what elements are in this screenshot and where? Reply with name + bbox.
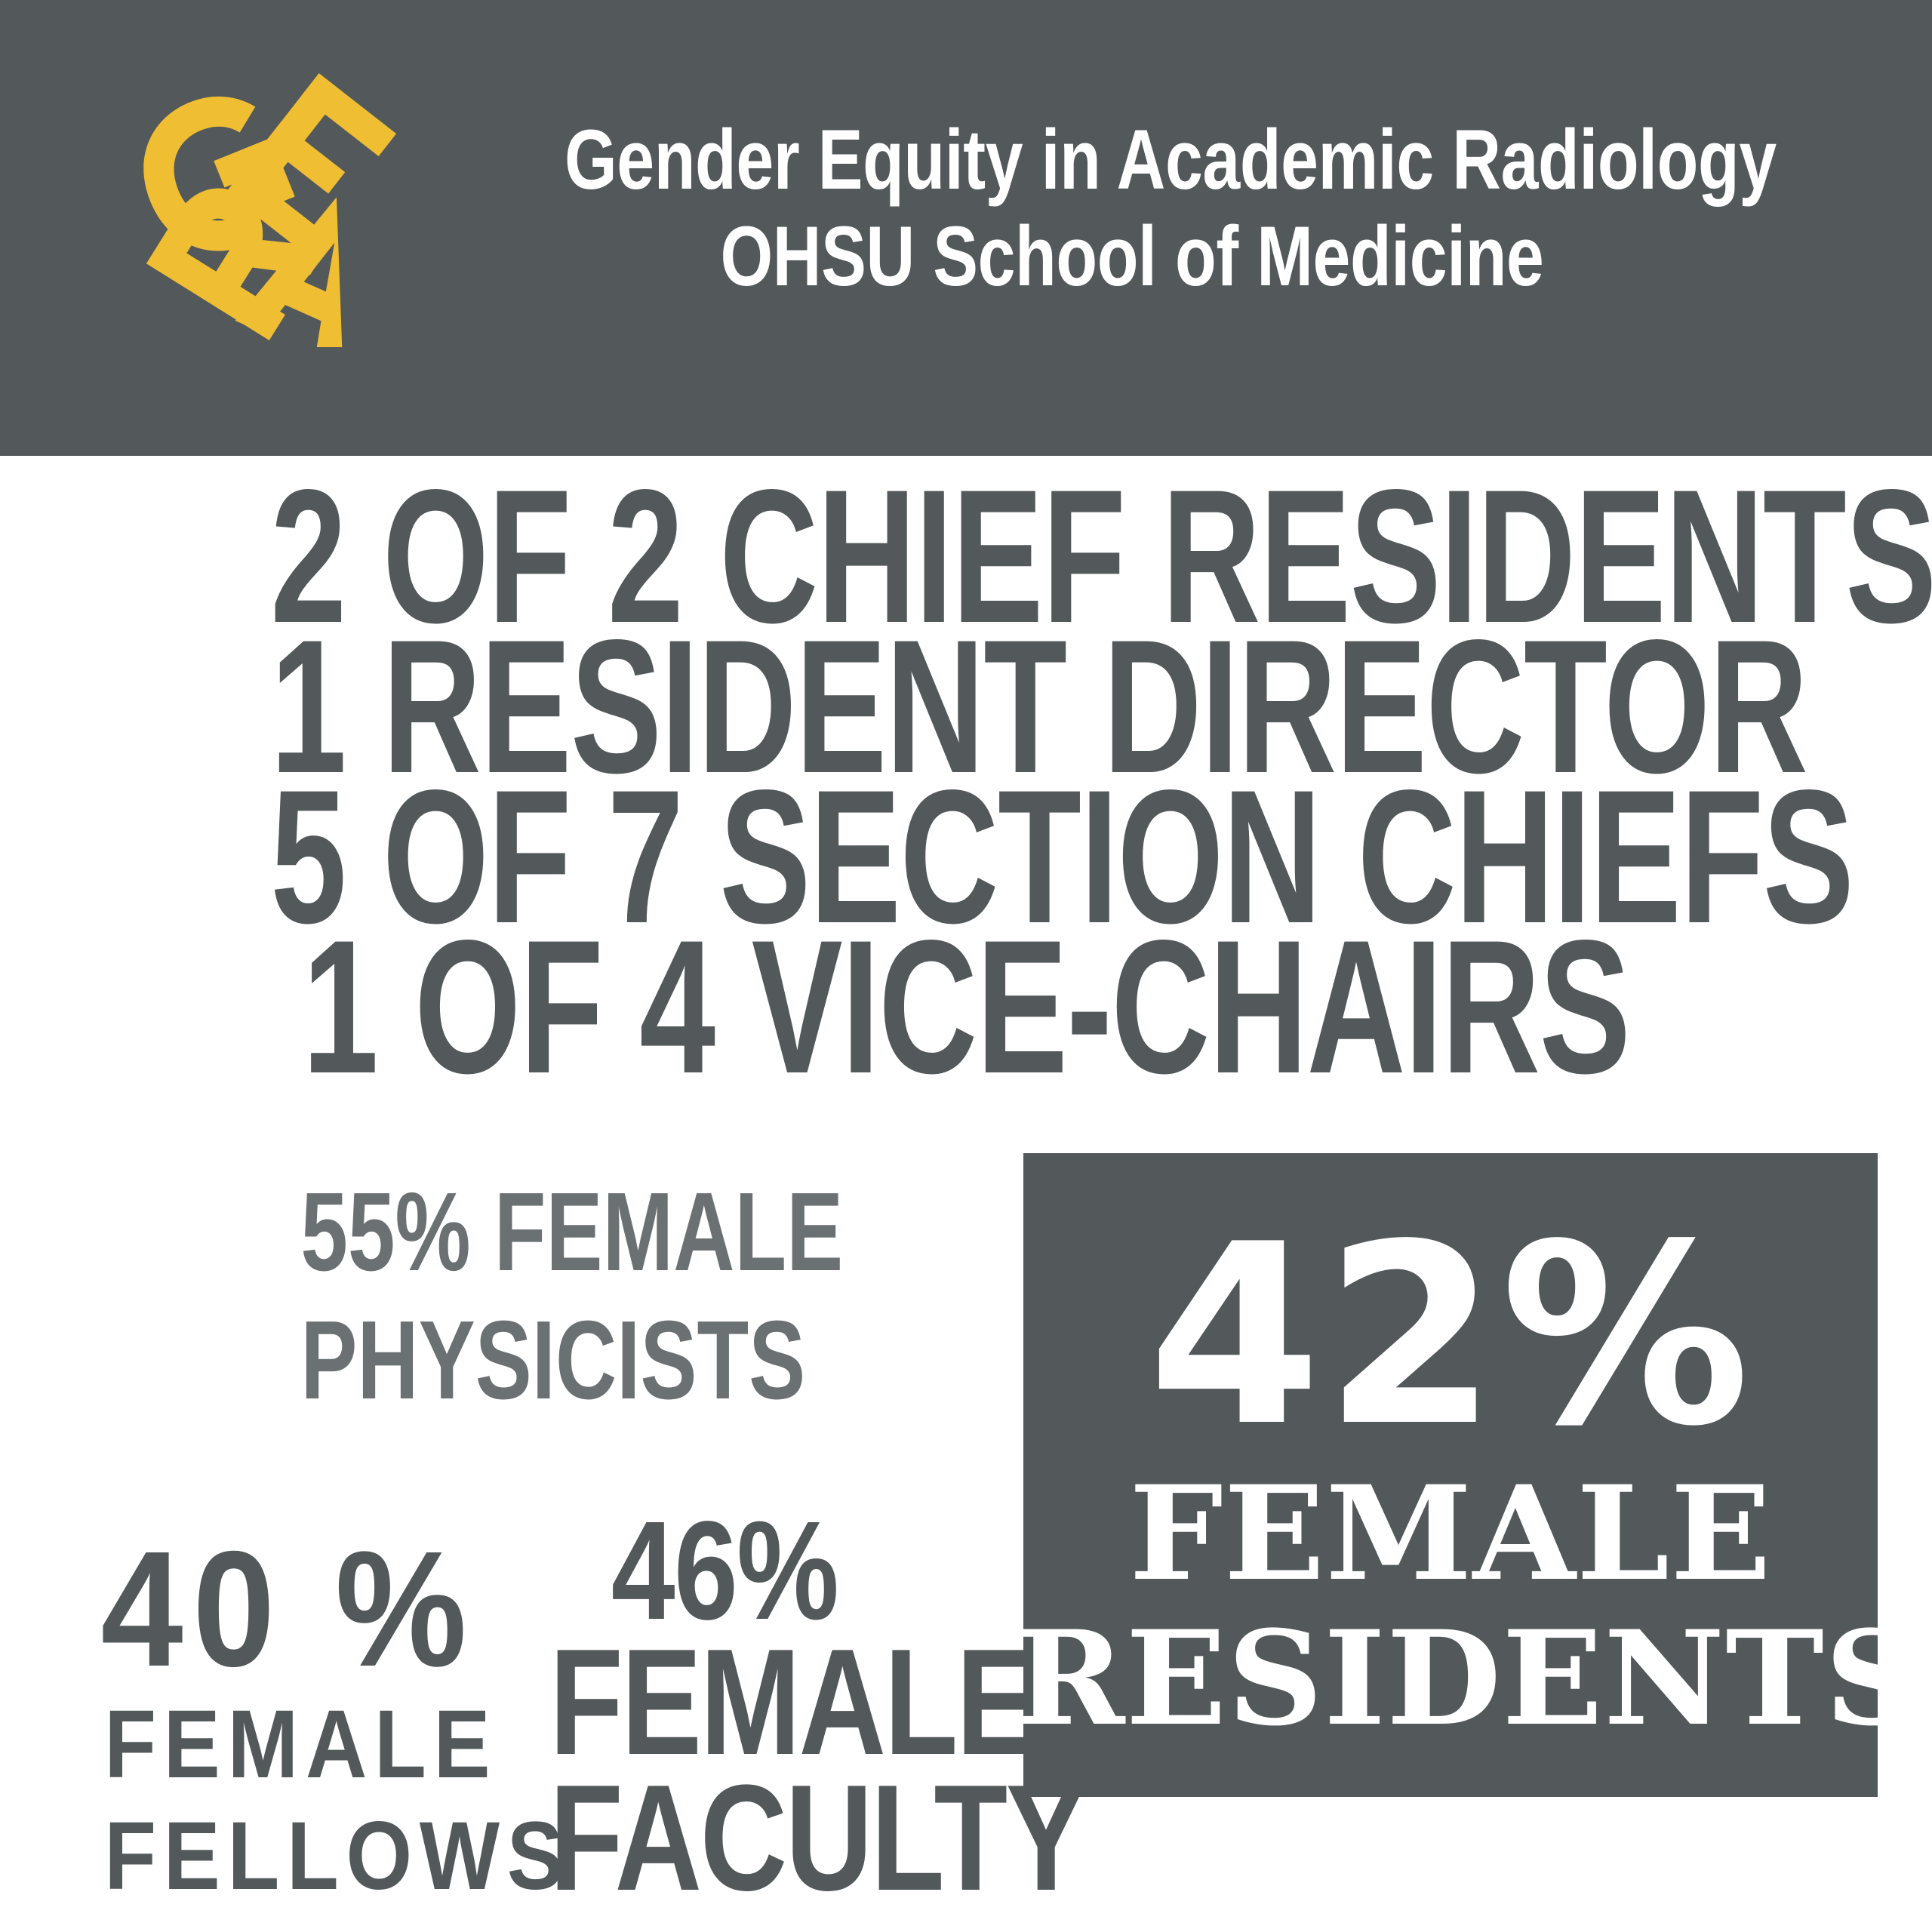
stat-fellows-line-1: FEMALE	[104, 1689, 417, 1801]
stat-faculty-line-1: FEMALE	[549, 1635, 900, 1770]
stat-physicists-line-2: PHYSICISTS	[300, 1297, 771, 1425]
gear-logo-icon	[106, 45, 400, 347]
stat-residents-line-2: RESIDENTS	[1015, 1606, 1887, 1751]
stat-residents-line-1: FEMALE	[1015, 1461, 1887, 1606]
header-band: Gender Equity in Academic Radiology OHSU…	[0, 0, 1932, 456]
stat-female-fellows: 40 % FEMALE FELLOWS	[83, 1531, 438, 1912]
header-title: Gender Equity in Academic Radiology OHSU…	[423, 112, 1841, 305]
headline-list: 2 OF 2 CHIEF RESIDENTS 1 RESIDENT DIRECT…	[0, 481, 1932, 1082]
stat-female-faculty: 46% FEMALE FACULTY	[506, 1508, 943, 1906]
stat-residents-percent: 42%	[1023, 1211, 1878, 1461]
stat-female-residents: 42% FEMALE RESIDENTS	[1023, 1211, 1878, 1751]
stat-faculty-percent: 46%	[545, 1508, 904, 1635]
stat-fellows-line-2: FELLOWS	[104, 1801, 417, 1912]
stat-female-residents-box: 42% FEMALE RESIDENTS	[1023, 1153, 1878, 1797]
header-title-line-2: OHSU School of Medicine	[565, 208, 1700, 305]
headline-item-vice-chairs: 1 OF 4 VICE-CHAIRS	[270, 932, 1661, 1082]
header-title-line-1: Gender Equity in Academic Radiology	[565, 112, 1700, 208]
gear-monogram-logo	[106, 45, 400, 347]
stat-fellows-percent: 40 %	[101, 1531, 420, 1689]
stat-faculty-line-2: FACULTY	[549, 1770, 900, 1906]
stat-physicists-line-1: 55% FEMALE	[300, 1168, 771, 1297]
infographic-page: Gender Equity in Academic Radiology OHSU…	[0, 0, 1932, 1932]
stat-female-physicists: 55% FEMALE PHYSICISTS	[226, 1168, 845, 1425]
